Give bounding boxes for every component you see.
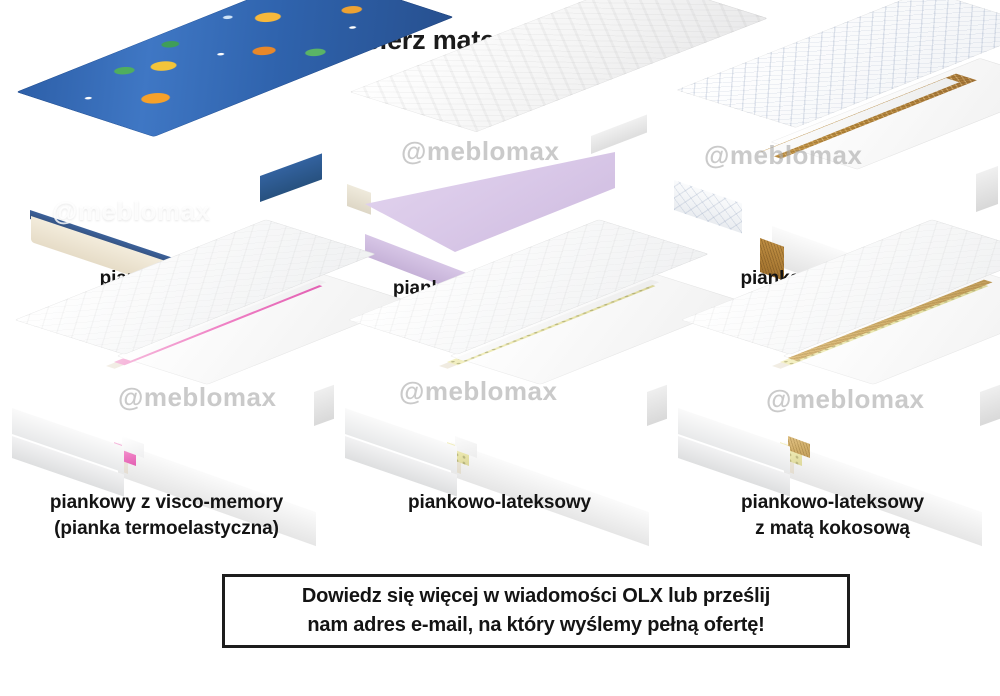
product-label-piankowo-lateksowy-mata-kokosowa: piankowo-lateksowy z matą kokosową bbox=[666, 490, 999, 542]
mattress-foam-base-side bbox=[980, 385, 1000, 426]
footer-line-2: nam adres e-mail, na który wyślemy pełną… bbox=[307, 611, 764, 640]
mattress-illustration bbox=[10, 312, 328, 480]
mattress-foam-base-side bbox=[976, 166, 998, 212]
product-image-piankowo-lateksowy: @meblomax bbox=[333, 304, 666, 500]
mattress-foam-base-side bbox=[647, 385, 667, 426]
product-label-line1: piankowo-lateksowy bbox=[666, 490, 999, 516]
product-image-piankowy-visco-memory: @meblomax bbox=[0, 304, 333, 500]
mattress-illustration bbox=[676, 312, 994, 480]
mattress-cover-side bbox=[260, 153, 322, 202]
product-label-piankowo-lateksowy: piankowo-lateksowy bbox=[333, 490, 666, 516]
mattress-cover-side bbox=[591, 115, 647, 154]
footer-line-1: Dowiedz się więcej w wiadomości OLX lub … bbox=[302, 582, 770, 611]
product-label-line2: z matą kokosową bbox=[666, 516, 999, 542]
product-label-line1: piankowy z visco-memory bbox=[0, 490, 333, 516]
product-label-piankowy-visco-memory: piankowy z visco-memory (pianka termoela… bbox=[0, 490, 333, 542]
mattress-illustration bbox=[343, 312, 661, 480]
poster-root: Dobierz materace do łóżka: @meblomax pia… bbox=[0, 0, 1000, 696]
product-card-piankowy-visco-memory[interactable]: @meblomax piankowy z visco-memory (piank… bbox=[0, 304, 333, 500]
product-image-piankowo-lateksowy-mata-kokosowa: @meblomax bbox=[666, 304, 999, 500]
mattress-foam-base-side bbox=[314, 385, 334, 426]
mattress-cover-side bbox=[674, 180, 742, 233]
footer-callout-box: Dowiedz się więcej w wiadomości OLX lub … bbox=[222, 574, 850, 648]
mattress-cover-lip bbox=[347, 184, 371, 215]
product-card-piankowo-lateksowy-mata-kokosowa[interactable]: @meblomax piankowo-lateksowy z matą koko… bbox=[666, 304, 999, 500]
product-card-piankowo-lateksowy[interactable]: @meblomax piankowo-lateksowy bbox=[333, 304, 666, 500]
product-label-line2: (pianka termoelastyczna) bbox=[0, 516, 333, 542]
